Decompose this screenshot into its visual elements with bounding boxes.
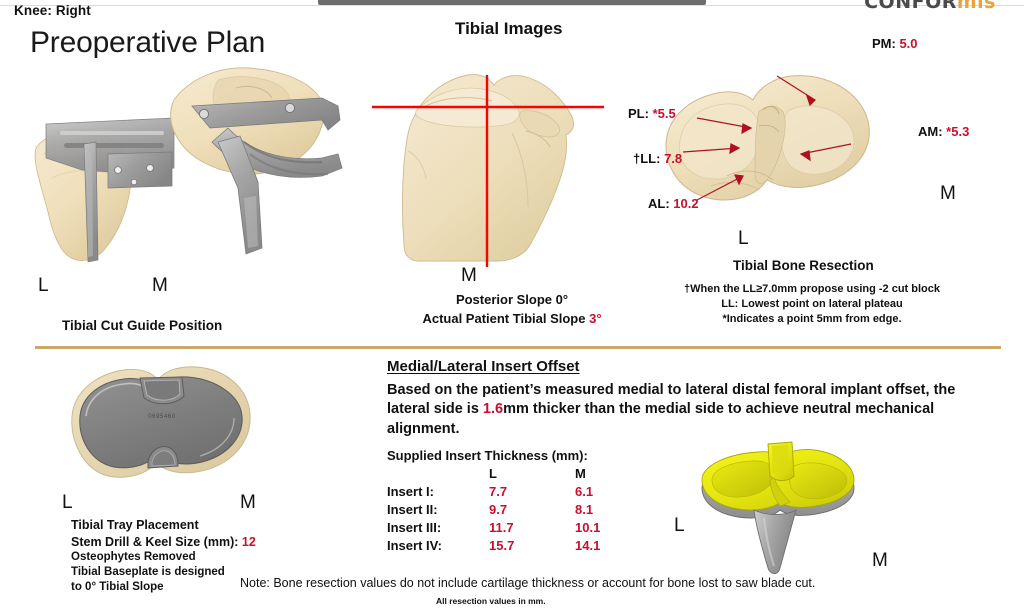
table-row: Insert IV: 15.7 14.1 bbox=[387, 538, 647, 556]
insert-row-lateral: 7.7 bbox=[475, 484, 561, 502]
cut-guide-caption: Tibial Cut Guide Position bbox=[62, 318, 222, 333]
tibial-tray-illustration: 0695460 bbox=[62, 362, 262, 487]
resection-footnotes: †When the LL≥7.0mm propose using -2 cut … bbox=[667, 282, 957, 327]
measurement-ll: †LL: 7.8 bbox=[633, 151, 682, 166]
tray-engraving-text: 0695460 bbox=[148, 414, 176, 420]
logo-text-accent: mis bbox=[957, 0, 996, 13]
resection-footnote-3: *Indicates a point 5mm from edge. bbox=[667, 312, 957, 327]
tibial-slope-captions: Posterior Slope 0° Actual Patient Tibial… bbox=[388, 291, 636, 329]
actual-slope-line: Actual Patient Tibial Slope 3° bbox=[388, 310, 636, 329]
tibial-cut-guide-illustration bbox=[22, 58, 362, 273]
section-title-tibial-images: Tibial Images bbox=[455, 19, 562, 39]
offset-description: Based on the patient’s measured medial t… bbox=[387, 381, 972, 439]
baseplate-line-2: to 0° Tibial Slope bbox=[71, 580, 256, 595]
insert-row-label: Insert III: bbox=[387, 520, 475, 538]
insert-row-label: Insert IV: bbox=[387, 538, 475, 556]
cut-guide-medial-marker: M bbox=[152, 275, 168, 297]
tibia-anterior-svg bbox=[372, 55, 604, 267]
insert-svg bbox=[690, 436, 870, 581]
table-row: Insert II: 9.7 8.1 bbox=[387, 502, 647, 520]
measurement-pl: PL: *5.5 bbox=[628, 106, 676, 121]
stem-drill-value: 12 bbox=[242, 535, 256, 549]
insert-row-label: Insert II: bbox=[387, 502, 475, 520]
insert-row-lateral: 11.7 bbox=[475, 520, 561, 538]
tray-caption: Tibial Tray Placement bbox=[71, 517, 256, 534]
insert-col-lateral: L bbox=[475, 466, 561, 484]
insert-table-grid: L M Insert I: 7.7 6.1 Insert II: 9.7 8.1… bbox=[387, 466, 647, 556]
insert-row-medial: 14.1 bbox=[561, 538, 647, 556]
tibial-anterior-view-illustration bbox=[372, 55, 604, 267]
actual-slope-value: 3° bbox=[589, 311, 601, 326]
footer-subnote: All resection values in mm. bbox=[436, 596, 546, 606]
offset-value: 1.6 bbox=[483, 401, 503, 417]
offset-section-title: Medial/Lateral Insert Offset bbox=[387, 358, 580, 375]
section-divider bbox=[35, 346, 1001, 349]
tray-svg: 0695460 bbox=[62, 362, 262, 487]
tibial-insert-illustration bbox=[690, 436, 870, 581]
knee-side-label: Knee: Right bbox=[14, 3, 91, 18]
cut-guide-right-view bbox=[171, 68, 342, 254]
tray-lateral-marker: L bbox=[62, 492, 73, 514]
page-title: Preoperative Plan bbox=[30, 26, 265, 60]
cut-guide-lateral-marker: L bbox=[38, 275, 49, 297]
stem-drill-line: Stem Drill & Keel Size (mm): 12 bbox=[71, 534, 256, 551]
insert-col-medial: M bbox=[561, 466, 647, 484]
cut-guide-left-view bbox=[35, 118, 174, 262]
footer-note: Note: Bone resection values do not inclu… bbox=[240, 576, 815, 590]
insert-row-medial: 6.1 bbox=[561, 484, 647, 502]
insert-table-title: Supplied Insert Thickness (mm): bbox=[387, 448, 647, 463]
insert-col-blank bbox=[387, 466, 475, 484]
table-row: Insert III: 11.7 10.1 bbox=[387, 520, 647, 538]
insert-row-medial: 10.1 bbox=[561, 520, 647, 538]
resection-footnote-2: LL: Lowest point on lateral plateau bbox=[667, 297, 957, 312]
tray-medial-marker: M bbox=[240, 492, 256, 514]
measurement-am: AM: *5.3 bbox=[918, 124, 969, 139]
resection-footnote-1: †When the LL≥7.0mm propose using -2 cut … bbox=[667, 282, 957, 297]
table-row: Insert I: 7.7 6.1 bbox=[387, 484, 647, 502]
insert-row-label: Insert I: bbox=[387, 484, 475, 502]
insert-table-header-row: L M bbox=[387, 466, 647, 484]
baseplate-line-1: Tibial Baseplate is designed bbox=[71, 565, 256, 580]
measurement-al: AL: 10.2 bbox=[648, 196, 699, 211]
insert-row-lateral: 15.7 bbox=[475, 538, 561, 556]
supplied-insert-thickness-table: Supplied Insert Thickness (mm): L M Inse… bbox=[387, 448, 647, 556]
tray-placement-block: Tibial Tray Placement Stem Drill & Keel … bbox=[71, 517, 256, 596]
resection-medial-marker: M bbox=[940, 183, 956, 205]
insert-row-lateral: 9.7 bbox=[475, 502, 561, 520]
insert-medial-marker: M bbox=[872, 550, 888, 572]
osteophytes-line: Osteophytes Removed bbox=[71, 550, 256, 565]
cut-guide-svg bbox=[22, 58, 362, 273]
resection-lateral-marker: L bbox=[738, 228, 749, 250]
conformis-logo: CONFORmis bbox=[864, 0, 996, 13]
tibial-view-medial-marker: M bbox=[461, 265, 477, 287]
insert-row-medial: 8.1 bbox=[561, 502, 647, 520]
insert-lateral-marker: L bbox=[674, 515, 685, 537]
stem-drill-label: Stem Drill & Keel Size (mm): bbox=[71, 535, 242, 549]
resection-caption: Tibial Bone Resection bbox=[733, 258, 874, 273]
logo-text-primary: CONFOR bbox=[864, 0, 957, 13]
measurement-pm: PM: 5.0 bbox=[872, 36, 918, 51]
posterior-slope-line: Posterior Slope 0° bbox=[388, 291, 636, 310]
actual-slope-label: Actual Patient Tibial Slope bbox=[422, 311, 589, 326]
